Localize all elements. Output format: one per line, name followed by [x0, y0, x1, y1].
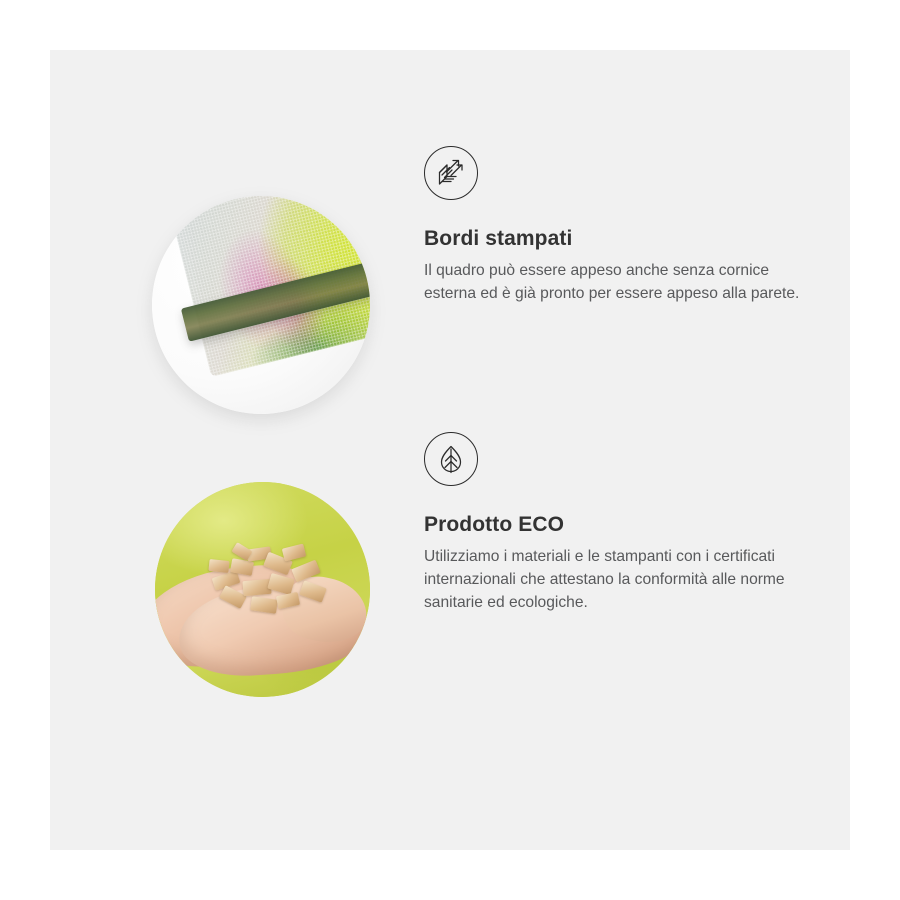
feature-title: Prodotto ECO: [424, 513, 806, 537]
wood-chip-pile: [207, 544, 331, 622]
feature-title: Bordi stampati: [424, 227, 806, 251]
leaf-icon: [424, 432, 478, 486]
feature-description: Utilizziamo i materiali e le stampanti c…: [424, 545, 806, 614]
hands-with-wood-chips-photo: [155, 482, 370, 697]
content-panel: Bordi stampati Il quadro può essere appe…: [50, 50, 850, 850]
wrapped-canvas-edge-icon: [424, 146, 478, 200]
feature-text-printed-edges: Bordi stampati Il quadro può essere appe…: [424, 146, 806, 305]
product-feature-banner: Bordi stampati Il quadro può essere appe…: [0, 0, 900, 900]
canvas-corner-photo: [152, 196, 370, 414]
feature-text-eco: Prodotto ECO Utilizziamo i materiali e l…: [424, 432, 806, 614]
feature-description: Il quadro può essere appeso anche senza …: [424, 259, 806, 305]
